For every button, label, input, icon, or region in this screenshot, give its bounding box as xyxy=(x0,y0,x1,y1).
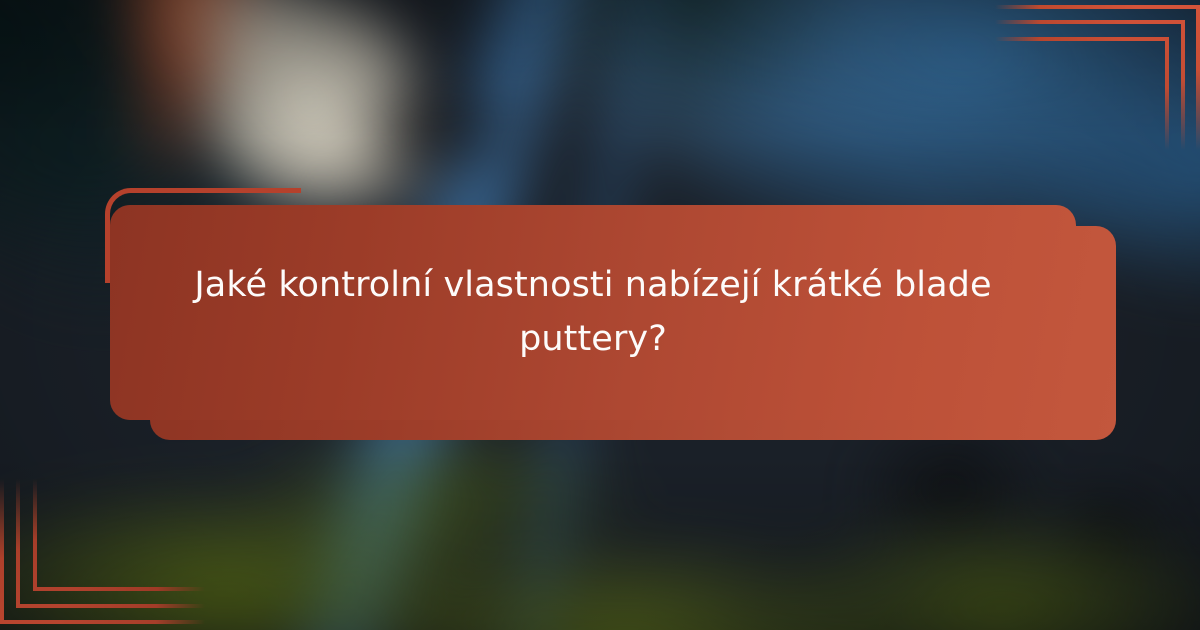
question-card: Jaké kontrolní vlastnosti nabízejí krátk… xyxy=(110,205,1076,420)
social-card-canvas: Jaké kontrolní vlastnosti nabízejí krátk… xyxy=(0,0,1200,630)
card-title: Jaké kontrolní vlastnosti nabízejí krátk… xyxy=(163,259,1023,365)
